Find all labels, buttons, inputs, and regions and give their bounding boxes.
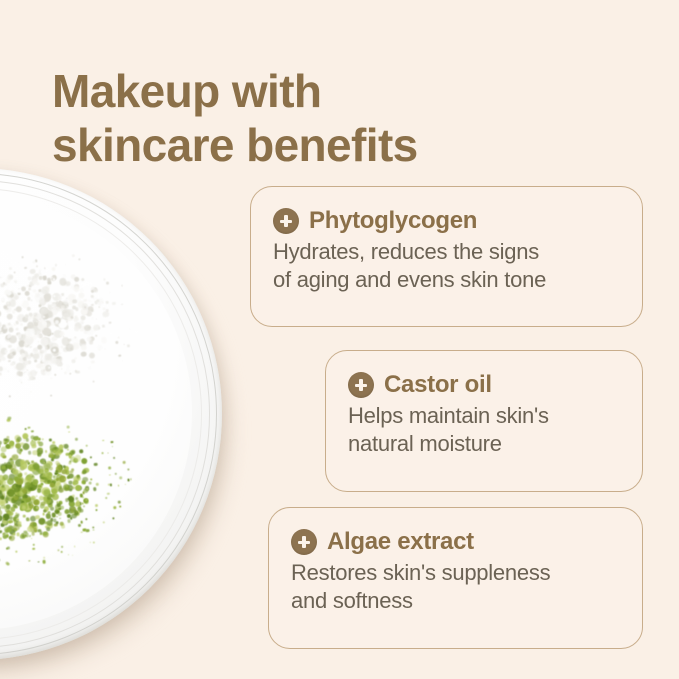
headline-line-2: skincare benefits [52, 118, 612, 172]
green-powder [0, 400, 140, 581]
benefit-card-castor-oil[interactable]: Castor oil Helps maintain skin's natural… [325, 350, 643, 492]
product-photo [0, 168, 240, 678]
plus-icon [273, 208, 299, 234]
benefit-title: Castor oil [384, 371, 492, 399]
benefit-title: Phytoglycogen [309, 207, 477, 235]
plus-icon [291, 529, 317, 555]
benefit-card-header: Castor oil [348, 371, 642, 399]
plus-icon [348, 372, 374, 398]
benefit-title: Algae extract [327, 528, 474, 556]
ceramic-plate [0, 168, 222, 660]
benefit-description: Hydrates, reduces the signs of aging and… [273, 238, 642, 294]
headline-line-1: Makeup with [52, 64, 612, 118]
benefit-card-algae-extract[interactable]: Algae extract Restores skin's suppleness… [268, 507, 643, 649]
plate-well [0, 196, 192, 630]
promo-graphic: Makeup with skincare benefits Phytoglyco… [0, 0, 679, 679]
benefit-description: Restores skin's suppleness and softness [291, 559, 642, 615]
plate-shadow [0, 184, 232, 678]
white-powder [0, 236, 140, 413]
benefit-card-header: Phytoglycogen [273, 207, 642, 235]
benefit-card-phytoglycogen[interactable]: Phytoglycogen Hydrates, reduces the sign… [250, 186, 643, 327]
plate-rim-middle [0, 180, 210, 648]
plate-rim-outer [0, 173, 217, 655]
benefit-description: Helps maintain skin's natural moisture [348, 402, 642, 458]
benefit-card-header: Algae extract [291, 528, 642, 556]
plate-rim-inner [0, 188, 202, 640]
page-title: Makeup with skincare benefits [52, 64, 612, 173]
